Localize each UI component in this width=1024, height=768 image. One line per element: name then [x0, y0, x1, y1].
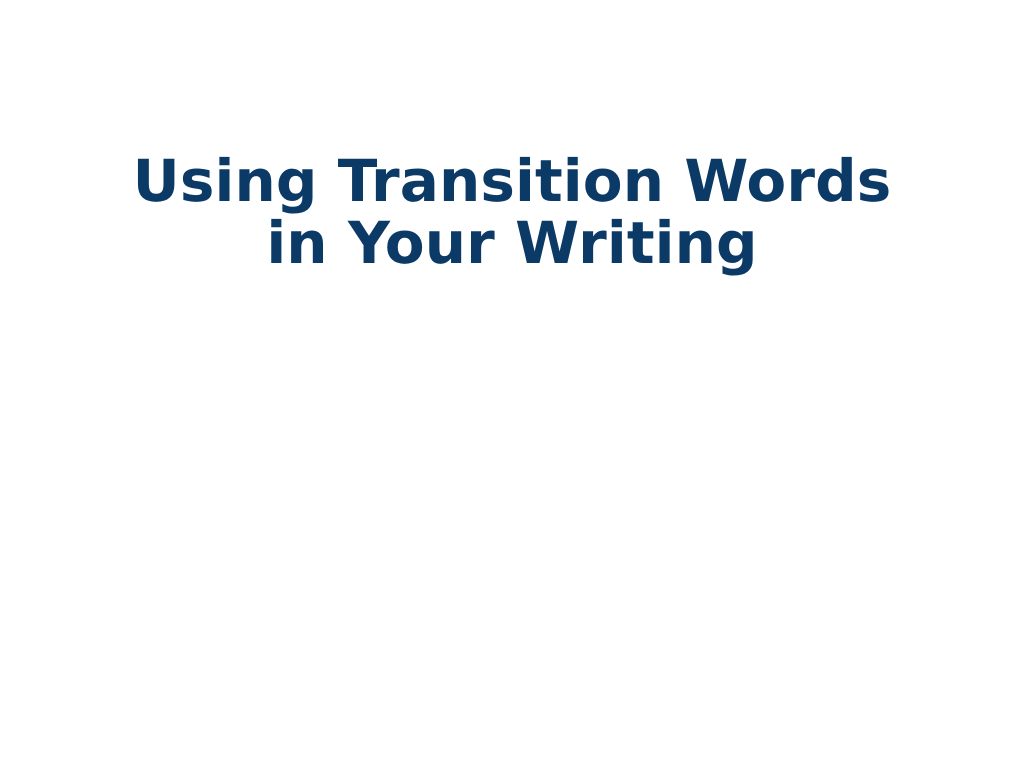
page-title: Using Transition Words in Your Writing [112, 150, 912, 274]
body-placeholder[interactable] [112, 300, 912, 316]
title-placeholder[interactable]: Using Transition Words in Your Writing [112, 150, 912, 274]
slide-canvas: Using Transition Words in Your Writing [0, 0, 1024, 768]
